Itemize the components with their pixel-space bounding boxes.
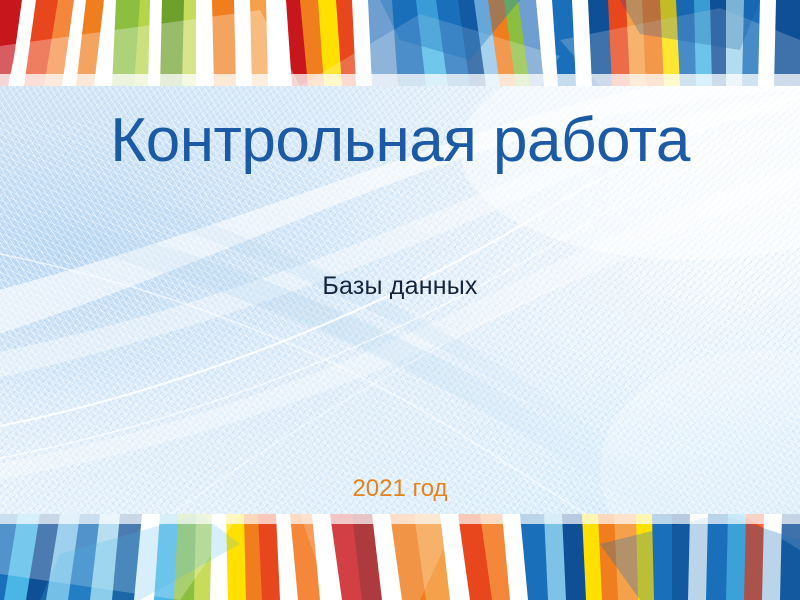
slide-subtitle: Базы данных (0, 272, 800, 301)
bottom-decorative-border (0, 514, 800, 600)
slide-title: Контрольная работа (0, 108, 800, 173)
presentation-title-slide: Контрольная работа Базы данных 2021 год (0, 0, 800, 600)
slide-year-label: 2021 год (0, 475, 800, 503)
bottom-border-geometric-shards (0, 514, 800, 600)
top-border-geometric-shards (0, 0, 800, 86)
top-decorative-border (0, 0, 800, 86)
